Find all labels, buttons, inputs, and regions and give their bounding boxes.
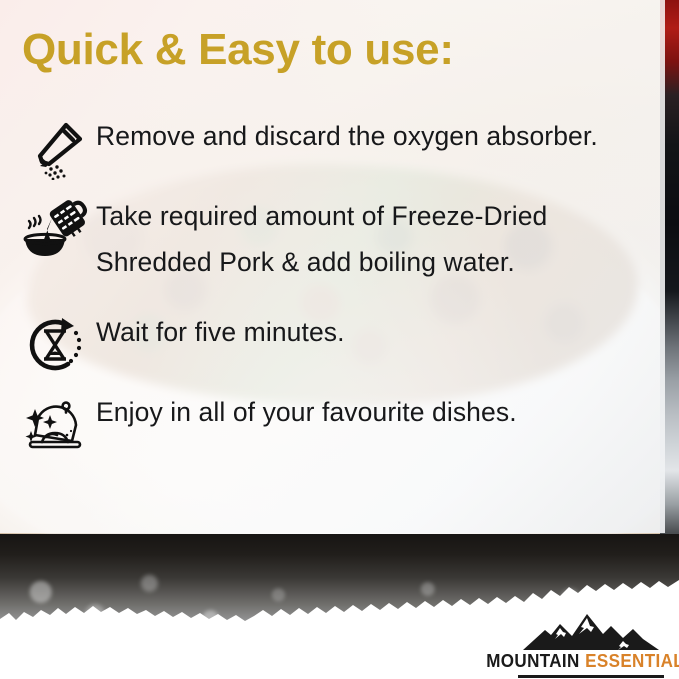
sachet-pouring-icon (14, 112, 96, 186)
jug-pouring-into-bowl-icon (14, 192, 96, 304)
list-item: Wait for five minutes. (14, 308, 654, 382)
logo-wordmark: MOUNTAIN ESSENTIALS (521, 650, 661, 672)
list-item: Take required amount of Freeze-Dried Shr… (14, 192, 654, 304)
list-item-label: Wait for five minutes. (96, 308, 654, 356)
list-item-label: Remove and discard the oxygen absorber. (96, 112, 654, 160)
logo-word-mountain: MOUNTAIN (486, 650, 579, 672)
page-title: Quick & Easy to use: (22, 28, 454, 72)
list-item-label: Take required amount of Freeze-Dried Shr… (96, 192, 654, 285)
cloche-sparkle-icon (14, 388, 96, 462)
mountain-peaks-icon (515, 612, 667, 650)
hourglass-timer-icon (14, 308, 96, 382)
product-instruction-graphic: Quick & Easy to use: (0, 0, 679, 679)
instruction-steps-list: Remove and discard the oxygen absorber. (14, 112, 654, 468)
logo-word-essentials: ESSENTIALS (585, 650, 679, 672)
list-item-label: Enjoy in all of your favourite dishes. (96, 388, 654, 436)
brand-logo: MOUNTAIN ESSENTIALS (515, 612, 667, 679)
list-item: Remove and discard the oxygen absorber. (14, 112, 654, 186)
logo-rule (518, 675, 664, 678)
list-item: Enjoy in all of your favourite dishes. (14, 388, 654, 462)
